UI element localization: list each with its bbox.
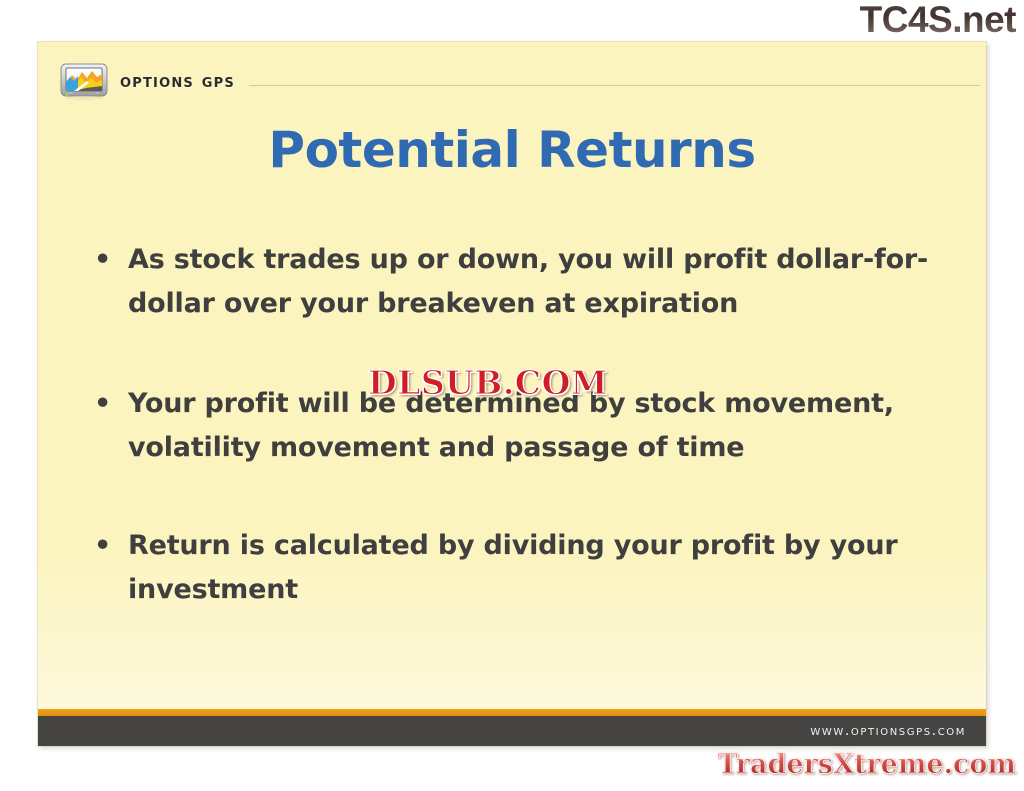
slide-footer: www.OptionsGPS.com	[38, 716, 986, 746]
bullet-spacer	[94, 470, 956, 524]
header-divider-rule	[249, 85, 980, 86]
page-title: Potential Returns	[38, 120, 986, 180]
bullet-dot-icon: •	[94, 382, 128, 426]
gps-device-icon	[60, 62, 108, 100]
site-brand-top: TC4S.net	[860, 0, 1016, 42]
bullet-dot-icon: •	[94, 524, 128, 568]
list-item-text: As stock trades up or down, you will pro…	[128, 238, 956, 326]
bullet-list: • As stock trades up or down, you will p…	[94, 238, 956, 612]
list-item: • Return is calculated by dividing your …	[94, 524, 956, 612]
logo-wordmark: Options GPS	[120, 70, 235, 92]
slide-header: Options GPS	[38, 56, 986, 106]
list-item: • As stock trades up or down, you will p…	[94, 238, 956, 326]
site-brand-bottom: TradersXtreme.com	[718, 748, 1016, 782]
list-item-text: Return is calculated by dividing your pr…	[128, 524, 956, 612]
footer-accent-stripe	[38, 709, 986, 716]
presentation-slide: Options GPS Potential Returns • As stock…	[38, 42, 986, 746]
footer-url-text: www.OptionsGPS.com	[810, 723, 966, 739]
watermark-overlay: DLSUB.COM	[368, 364, 608, 402]
bullet-dot-icon: •	[94, 238, 128, 282]
